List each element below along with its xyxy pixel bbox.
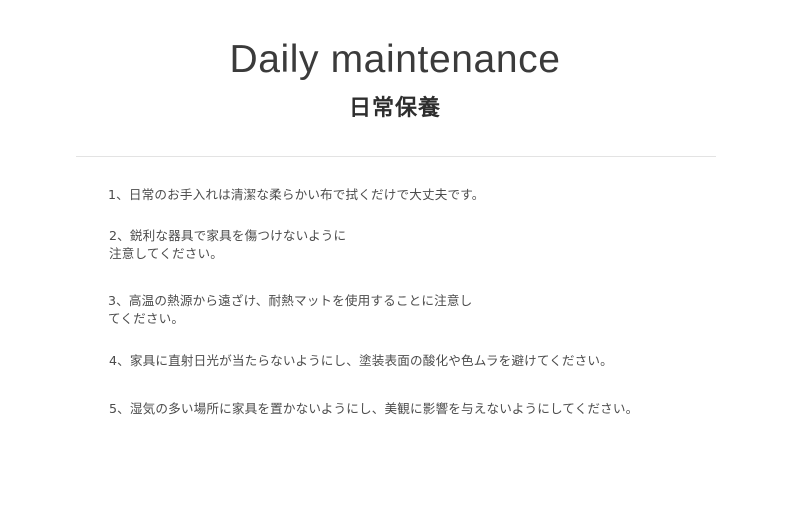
page-header: Daily maintenance 日常保養 (0, 0, 790, 120)
list-item: 1、日常のお手入れは清潔な柔らかい布で拭くだけで大丈夫です。 (0, 186, 790, 204)
page-title-japanese: 日常保養 (0, 98, 790, 120)
page-title-english: Daily maintenance (0, 40, 790, 79)
header-divider (76, 156, 716, 157)
daily-maintenance-page: Daily maintenance 日常保養 1、日常のお手入れは清潔な柔らかい… (0, 0, 790, 507)
list-item: 2、鋭利な器具で家具を傷つけないように 注意してください。 (0, 227, 790, 263)
list-item: 3、高温の熱源から遠ざけ、耐熱マットを使用することに注意し てください。 (0, 292, 790, 328)
header-divider-container (0, 156, 790, 157)
list-item: 5、湿気の多い場所に家具を置かないようにし、美観に影響を与えないようにしてくださ… (0, 400, 790, 418)
list-item: 4、家具に直射日光が当たらないようにし、塗装表面の酸化や色ムラを避けてください。 (0, 352, 790, 370)
care-instruction-list: 1、日常のお手入れは清潔な柔らかい布で拭くだけで大丈夫です。 2、鋭利な器具で家… (0, 186, 790, 418)
